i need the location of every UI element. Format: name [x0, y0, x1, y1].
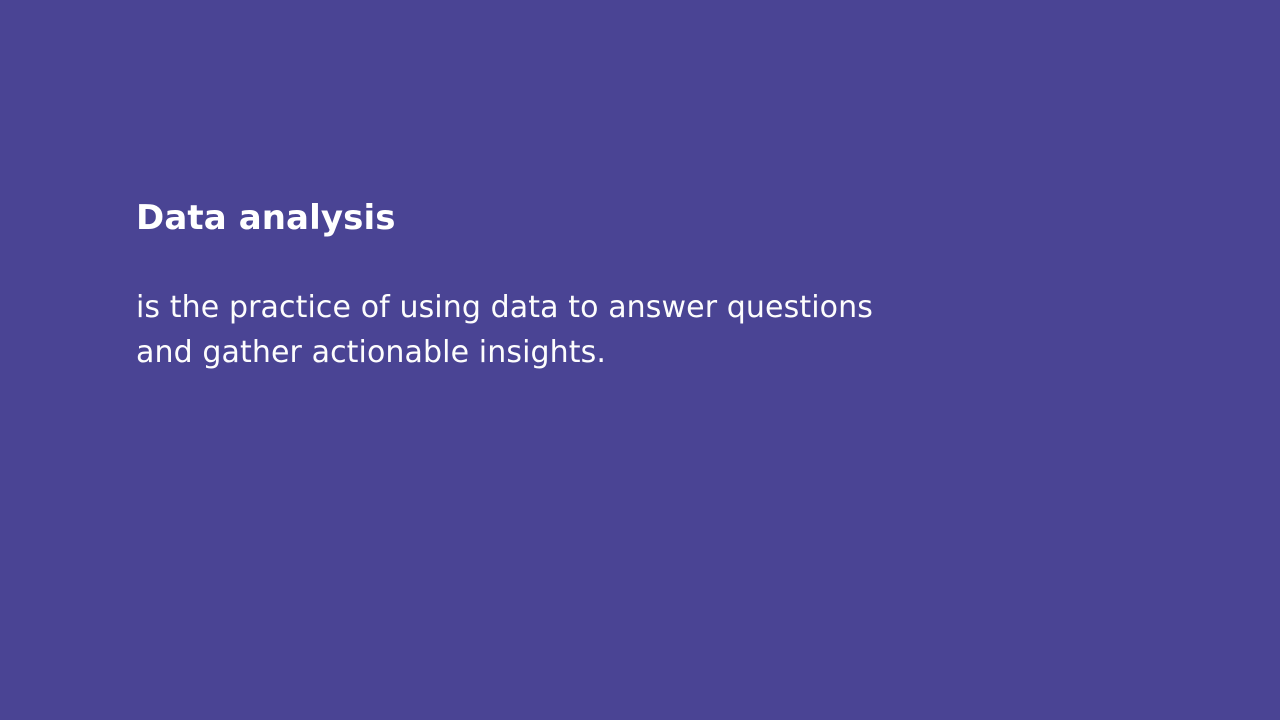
- body-line-1: is the practice of using data to answer …: [136, 285, 1036, 330]
- slide-body-paragraph: is the practice of using data to answer …: [136, 240, 1036, 375]
- slide-heading: Data analysis: [136, 196, 1036, 240]
- slide-text-block: Data analysis is the practice of using d…: [136, 196, 1036, 375]
- body-line-2: and gather actionable insights.: [136, 330, 1036, 375]
- slide-canvas: Data analysis is the practice of using d…: [0, 0, 1280, 720]
